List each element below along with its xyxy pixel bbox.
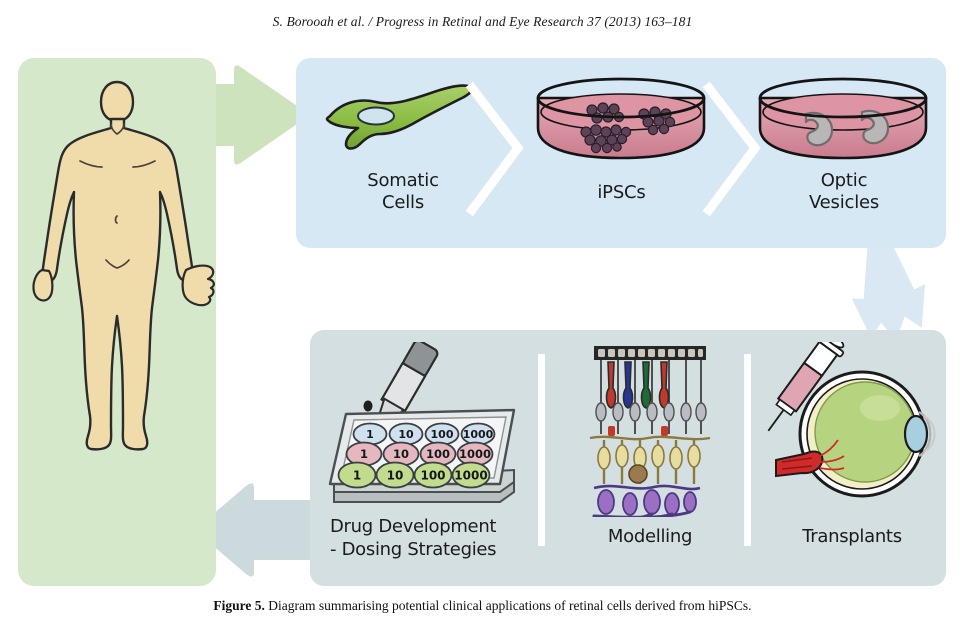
well-label: 1 xyxy=(360,447,368,461)
application-label-modelling: Modelling xyxy=(560,526,740,549)
well-label: 100 xyxy=(431,428,454,441)
well-label: 10 xyxy=(398,428,414,441)
caption-figure-number: Figure 5. xyxy=(213,598,265,613)
well-label: 1 xyxy=(366,428,374,441)
somatic-cell-icon xyxy=(318,72,488,170)
well-label: 1000 xyxy=(459,447,491,461)
well-label: 1000 xyxy=(463,428,494,441)
pipette-wellplate-icon: 110100100011010010001101001000 xyxy=(324,342,534,517)
eye-syringe-icon xyxy=(762,342,942,517)
well-label: 1 xyxy=(353,468,361,482)
well-label: 10 xyxy=(393,447,409,461)
stage-label-optic-vesicles: Optic Vesicles xyxy=(744,170,944,214)
running-head: S. Borooah et al. / Progress in Retinal … xyxy=(0,14,965,30)
vertical-divider-2 xyxy=(744,354,751,546)
clinical-applications-panel: 110100100011010010001101001000 Drug Deve… xyxy=(310,330,946,586)
well-label: 100 xyxy=(426,447,450,461)
figure-diagram: Somatic Cells xyxy=(0,50,965,590)
vertical-divider-1 xyxy=(538,354,545,546)
application-label-drug-development: Drug Development - Dosing Strategies xyxy=(324,516,540,561)
application-drug-development: 110100100011010010001101001000 Drug Deve… xyxy=(324,330,534,586)
retina-layers-icon xyxy=(560,342,740,517)
stage-ipscs: iPSCs xyxy=(514,58,729,248)
stage-optic-vesicles: Optic Vesicles xyxy=(744,58,944,248)
stage-label-ipscs: iPSCs xyxy=(514,182,729,204)
caption-text: Diagram summarising potential clinical a… xyxy=(265,598,752,613)
medical-applications-panel xyxy=(18,58,216,586)
wellplate-grid: 110100100011010010001101001000 xyxy=(339,424,495,488)
well-label: 1000 xyxy=(454,468,487,482)
application-label-transplants: Transplants xyxy=(762,526,942,549)
derivation-pathway-panel: Somatic Cells xyxy=(296,58,946,248)
human-body-figure-icon xyxy=(18,64,216,484)
well-label: 10 xyxy=(387,468,404,482)
petri-dish-vesicles-icon xyxy=(744,72,944,170)
petri-dish-colonies-icon xyxy=(514,72,729,170)
stage-somatic-cells: Somatic Cells xyxy=(318,58,488,248)
application-transplants: Transplants xyxy=(762,330,942,586)
application-modelling: Modelling xyxy=(560,330,740,586)
figure-caption: Figure 5. Diagram summarising potential … xyxy=(0,598,965,614)
well-label: 100 xyxy=(420,468,445,482)
stage-label-somatic-cells: Somatic Cells xyxy=(318,170,488,214)
